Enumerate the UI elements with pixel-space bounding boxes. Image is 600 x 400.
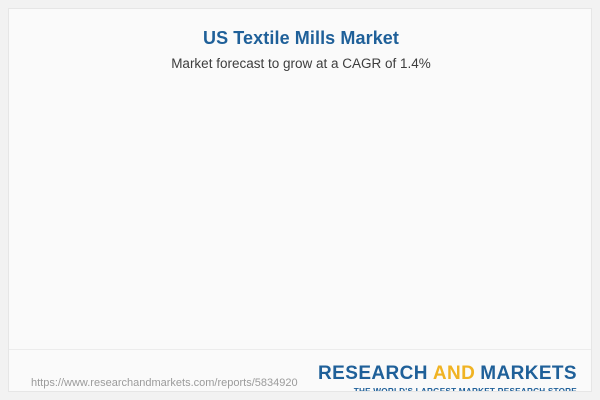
brand-wordmark: RESEARCHANDMARKETS <box>318 364 577 383</box>
brand-tagline: THE WORLD'S LARGEST MARKET RESEARCH STOR… <box>318 387 577 392</box>
footer-divider <box>9 349 592 350</box>
bar-chart-plot-area: USD 79.24 Billion 2021 USD 84.87 Billion… <box>9 9 592 349</box>
brand-logo[interactable]: RESEARCHANDMARKETS THE WORLD'S LARGEST M… <box>318 364 577 392</box>
brand-word-research: RESEARCH <box>318 363 428 384</box>
brand-word-markets: MARKETS <box>480 363 577 384</box>
brand-word-and: AND <box>433 363 475 384</box>
chart-card: US Textile Mills Market Market forecast … <box>8 8 592 392</box>
source-url-link[interactable]: https://www.researchandmarkets.com/repor… <box>31 377 298 389</box>
